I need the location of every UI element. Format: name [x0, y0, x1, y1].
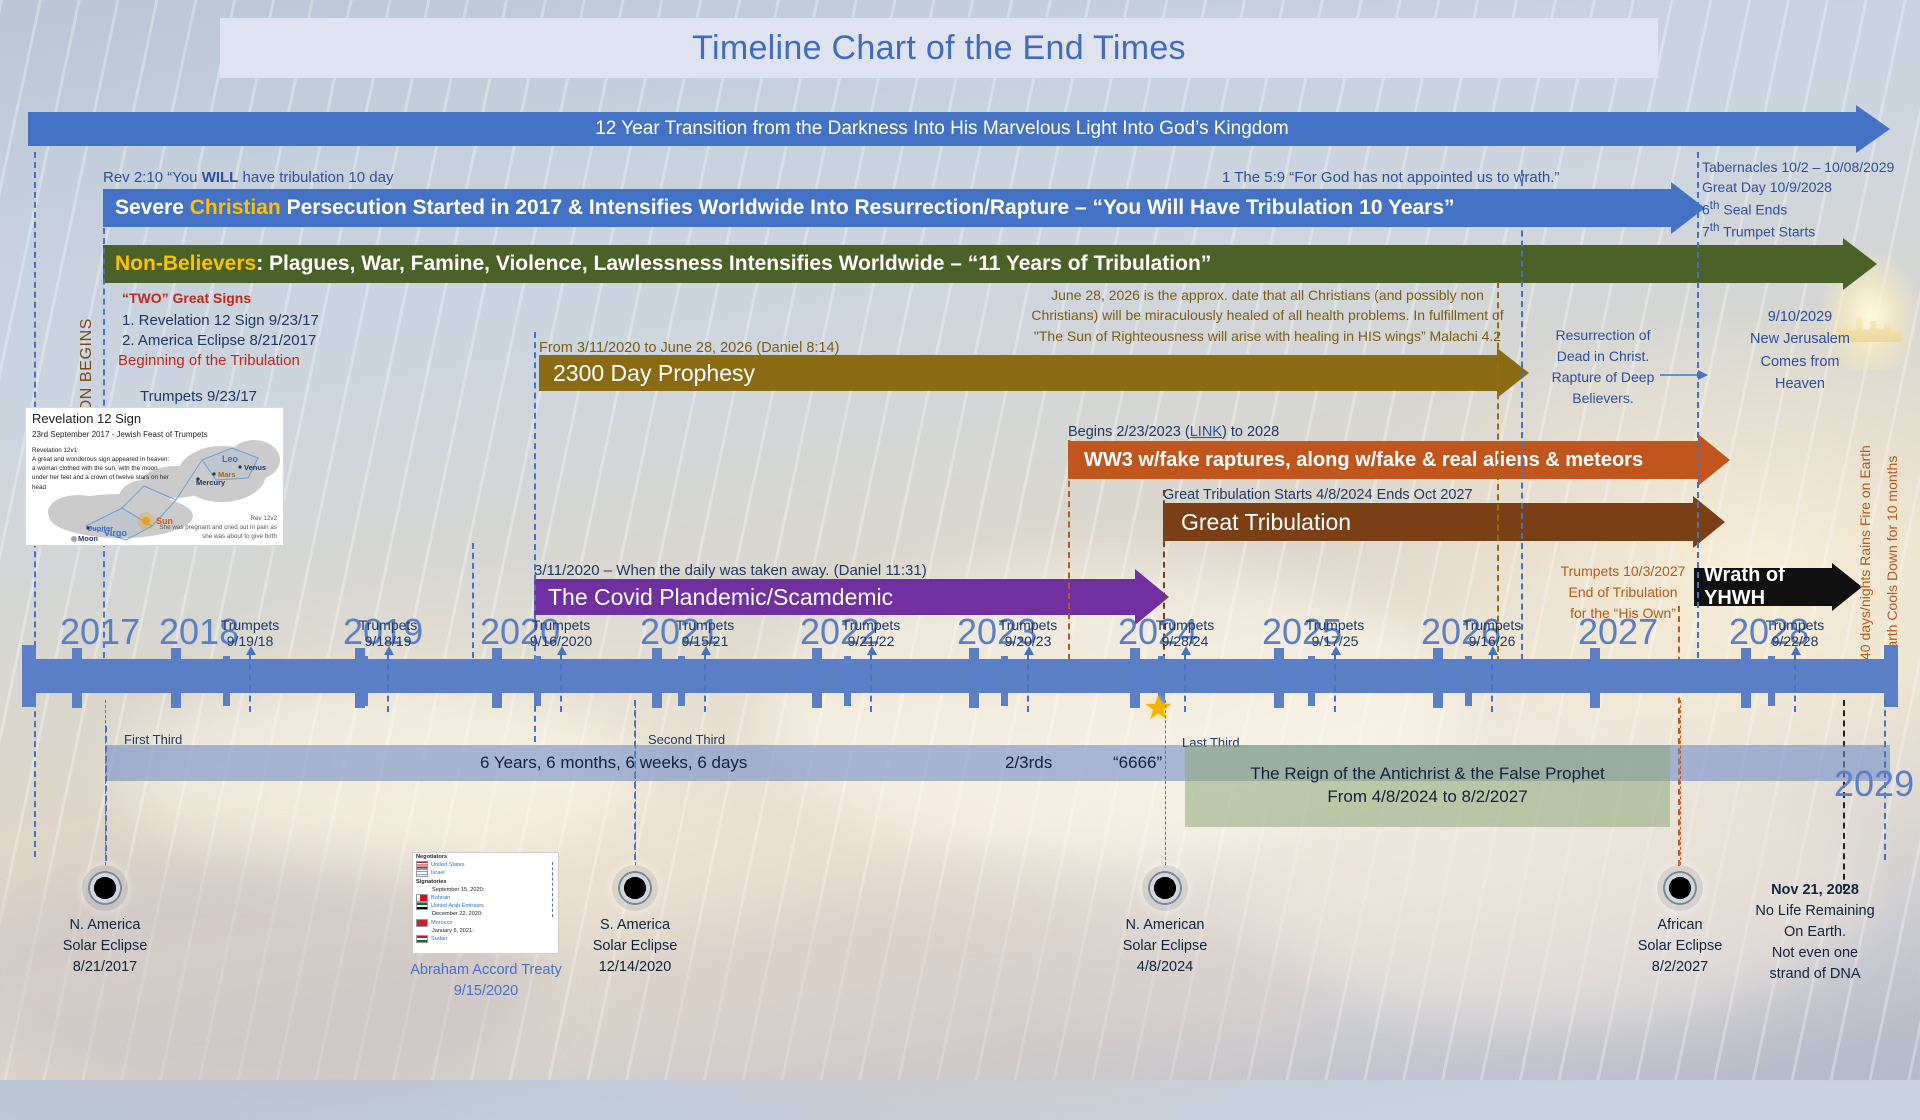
accord-country: Israel	[431, 870, 445, 876]
bar-wrath-of-yhwh: Wrath of YHWH	[1694, 568, 1832, 606]
antichrist-reign-line-2: From 4/8/2024 to 8/2/2027	[1327, 786, 1527, 809]
axis-tick-major	[171, 648, 181, 708]
great-day-line: Great Day 10/9/2028	[1702, 177, 1894, 197]
malachi-line-2: Christians) will be miraculously healed …	[1020, 305, 1515, 325]
tabernacles-line: Tabernacles 10/2 – 10/08/2029	[1702, 157, 1894, 177]
axis-trumpet-word: Trumpets	[522, 617, 600, 633]
accord-negotiators-label: Negotiators	[416, 854, 447, 860]
axis-tick-major	[72, 648, 82, 708]
antichrist-reign-line-1: The Reign of the Antichrist & the False …	[1250, 763, 1604, 786]
flag-icon	[416, 869, 428, 877]
rev12-title: Revelation 12 Sign	[32, 411, 141, 426]
bar-persecution-arrowhead	[1671, 182, 1705, 234]
accord-date: September 15, 2020:	[416, 887, 484, 893]
resurrection-line-2: Dead in Christ.	[1542, 346, 1664, 367]
no-life-line-5: strand of DNA	[1742, 964, 1888, 985]
accord-row: Sudan	[413, 935, 558, 943]
axis-trumpet-date: 9/16/2020	[522, 633, 600, 649]
axis-tick-major	[492, 648, 502, 708]
trumpets-end-line-1: Trumpets 10/3/2027	[1548, 561, 1698, 582]
accord-signatories-header: Signatories	[413, 878, 558, 886]
axis-trumpet-arrow-icon	[249, 654, 251, 712]
accord-country: Morocco	[431, 920, 452, 926]
axis-tick-minor	[1768, 656, 1775, 706]
guide-accord	[552, 862, 553, 917]
rev12-label-mercury: Mercury	[196, 478, 225, 487]
rev-2-10-pre: Rev 2:10 “You	[103, 169, 202, 186]
persecution-post: Persecution Started in 2017 & Intensifie…	[281, 196, 1455, 219]
great-tribulation-note: Great Tribulation Starts 4/8/2024 Ends O…	[1163, 486, 1473, 504]
axis-trumpet-date: 9/16/26	[1453, 633, 1531, 649]
eclipse-label-line-1: African	[1602, 915, 1758, 936]
accord-date: December 22, 2020:	[416, 911, 483, 917]
bar-wrath-label: Wrath of YHWH	[1704, 564, 1832, 610]
axis-tick-minor	[361, 656, 368, 706]
new-jerusalem-line-1: 9/10/2029	[1730, 306, 1870, 328]
axis-tick-major	[969, 648, 979, 708]
ww3-note: Begins 2/23/2023 (LINK) to 2028	[1068, 423, 1279, 441]
rev12-verse2-text: She was pregnant and cried out in pain a…	[157, 523, 277, 541]
abraham-accord-caption: Abraham Accord Treaty 9/15/2020	[396, 960, 576, 1002]
trumpets-9-23-17: Trumpets 9/23/17	[140, 388, 257, 407]
six-six-six-six-label: 6 Years, 6 months, 6 weeks, 6 days	[480, 753, 747, 773]
eclipse-guide	[1165, 700, 1166, 865]
eclipse-label-line-1: S. America	[557, 915, 713, 936]
beginning-of-tribulation: Beginning of the Tribulation	[118, 352, 300, 371]
resurrection-line-4: Believers.	[1542, 388, 1664, 409]
axis-trumpet-word: Trumpets	[989, 617, 1067, 633]
axis-trumpet-label: Trumpets9/28/24	[1146, 617, 1224, 649]
bar-2300-day-prophesy: 2300 Day Prophesy	[539, 355, 1497, 391]
axis-trumpet-word: Trumpets	[1756, 617, 1834, 633]
new-jerusalem-line-4: Heaven	[1730, 373, 1870, 395]
axis-tick-minor	[534, 656, 541, 706]
no-life-line-3: On Earth.	[1742, 922, 1888, 943]
rev-2-10-post: have tribulation 10 day	[238, 169, 393, 186]
new-jerusalem-note: 9/10/2029 New Jerusalem Comes from Heave…	[1730, 306, 1870, 396]
earth-cools-note: Earth Cools Down for 10 months	[1884, 408, 1900, 658]
abraham-accord-caption-line-1: Abraham Accord Treaty	[396, 960, 576, 981]
accord-row: December 22, 2020:	[413, 910, 558, 918]
rev-2-10-note: Rev 2:10 “You WILL have tribulation 10 d…	[103, 169, 393, 188]
axis-trumpet-arrow-icon	[1334, 654, 1336, 712]
guide-2018	[472, 543, 474, 658]
eclipse-icon	[612, 865, 658, 911]
axis-trumpet-label: Trumpets9/20/23	[989, 617, 1067, 649]
axis-trumpet-arrow-icon	[704, 654, 706, 712]
great-sign-2: 2. America Eclipse 8/21/2017	[122, 332, 316, 351]
axis-trumpet-label: Trumpets9/16/26	[1453, 617, 1531, 649]
accord-row: Morocco	[413, 919, 558, 927]
accord-country: United Arab Emirates	[431, 903, 484, 909]
axis-tick-minor	[1308, 656, 1315, 706]
new-jerusalem-line-3: Comes from	[1730, 351, 1870, 373]
axis-trumpet-label: Trumpets9/15/21	[666, 617, 744, 649]
axis-tick-major	[1741, 648, 1751, 708]
axis-trumpet-date: 9/17/25	[1296, 633, 1374, 649]
accord-country: United States	[431, 862, 465, 868]
axis-trumpet-arrow-icon	[560, 654, 562, 712]
bar-non-believers: Non-Believers: Plagues, War, Famine, Vio…	[103, 245, 1843, 283]
accord-row: January 6, 2021:	[413, 927, 558, 935]
axis-trumpet-word: Trumpets	[211, 617, 289, 633]
axis-trumpet-date: 9/20/23	[989, 633, 1067, 649]
malachi-line-3: "The Sun of Righteousness will arise wit…	[1020, 326, 1515, 346]
resurrection-note: Resurrection of Dead in Christ. Rapture …	[1542, 325, 1664, 409]
rev-2-10-bold: WILL	[202, 169, 239, 186]
axis-trumpet-arrow-icon	[870, 654, 872, 712]
malachi-note: June 28, 2026 is the approx. date that a…	[1020, 285, 1515, 346]
bar-12-year-transition: 12 Year Transition from the Darkness Int…	[28, 112, 1856, 146]
resurrection-line-3: Rapture of Deep	[1542, 367, 1664, 388]
axis-year-label: 2027	[1578, 611, 1658, 653]
rev12-label-sun: Sun	[156, 516, 173, 526]
bar-ww3-label: WW3 w/fake raptures, along w/fake & real…	[1084, 449, 1643, 472]
guide-rapture	[1521, 170, 1523, 660]
malachi-line-1: June 28, 2026 is the approx. date that a…	[1020, 285, 1515, 305]
axis-trumpet-arrow-icon	[1184, 654, 1186, 712]
eclipse-guide	[1680, 700, 1681, 865]
abraham-accord-caption-line-2: 9/15/2020	[396, 981, 576, 1002]
persecution-highlight: Christian	[190, 196, 281, 219]
rev12-verse-ref: Revelation 12v1	[32, 446, 172, 455]
covid-note: 3/11/2020 – When the daily was taken awa…	[534, 562, 927, 581]
bar-2300-arrowhead	[1497, 348, 1529, 398]
flag-icon	[416, 902, 428, 910]
accord-row: United States	[413, 861, 558, 869]
ww3-note-post: ) to 2028	[1222, 424, 1279, 440]
ww3-note-pre: Begins 2/23/2023 (	[1068, 424, 1190, 440]
year-2029-label: 2029	[1834, 763, 1914, 805]
seal-6-line: 6th Seal Ends	[1702, 198, 1894, 220]
resurrection-arrow-icon	[1660, 368, 1708, 382]
axis-trumpet-word: Trumpets	[666, 617, 744, 633]
bar-non-believers-label: Non-Believers: Plagues, War, Famine, Vio…	[115, 252, 1211, 276]
axis-trumpet-label: Trumpets9/19/18	[211, 617, 289, 649]
trumpet-7-line: 7th Trumpet Starts	[1702, 220, 1894, 242]
eclipse-guide	[635, 700, 636, 865]
eclipse-label-line-3: 8/21/2017	[27, 957, 183, 978]
bar-great-tribulation: Great Tribulation	[1163, 503, 1693, 541]
guide-tabernacles	[1697, 152, 1699, 658]
flag-icon	[416, 861, 428, 869]
bar-covid-label: The Covid Plandemic/Scamdemic	[548, 584, 893, 611]
accord-negotiators-header: Negotiators	[413, 853, 558, 861]
axis-trumpet-word: Trumpets	[349, 617, 427, 633]
no-life-line-2: No Life Remaining	[1742, 901, 1888, 922]
guide-ww3-start	[1068, 440, 1070, 660]
resurrection-line-1: Resurrection of	[1542, 325, 1664, 346]
eclipse-label-line-2: Solar Eclipse	[27, 936, 183, 957]
axis-tick-minor	[678, 656, 685, 706]
thess-5-9-note: 1 The 5:9 “For God has not appointed us …	[1222, 169, 1559, 188]
star-marker-4-8-2024: ★	[1143, 688, 1173, 728]
bar-12-year-transition-label: 12 Year Transition from the Darkness Int…	[28, 118, 1856, 140]
bar-ww3: WW3 w/fake raptures, along w/fake & real…	[1068, 441, 1698, 479]
axis-trumpet-word: Trumpets	[1146, 617, 1224, 633]
bar-ww3-arrowhead	[1698, 434, 1730, 486]
two-great-signs-heading: “TWO” Great Signs	[122, 290, 251, 308]
page-title: Timeline Chart of the End Times	[692, 29, 1186, 68]
axis-trumpet-date: 9/18/19	[349, 633, 427, 649]
second-third-label: Second Third	[648, 732, 725, 747]
eclipse-label-line-3: 4/8/2024	[1087, 957, 1243, 978]
axis-tick-major	[652, 648, 662, 708]
bar-great-tribulation-label: Great Tribulation	[1181, 509, 1351, 536]
eclipse-label-line-1: N. America	[27, 915, 183, 936]
no-life-line-1: Nov 21, 2028	[1742, 880, 1888, 901]
eclipse-label-line-2: Solar Eclipse	[557, 936, 713, 957]
eclipse-icon	[1142, 865, 1188, 911]
bar-non-believers-arrowhead	[1843, 238, 1877, 290]
axis-trumpet-arrow-icon	[1794, 654, 1796, 712]
accord-signatories-label: Signatories	[416, 879, 446, 885]
antichrist-reign-box: The Reign of the Antichrist & the False …	[1185, 745, 1670, 827]
rev12-verse2-ref: Rev 12v2	[157, 514, 277, 523]
flag-icon	[416, 894, 428, 902]
axis-tick-major	[1130, 648, 1140, 708]
trumpets-end-line-2: End of Tribulation	[1548, 582, 1698, 603]
great-sign-1: 1. Revelation 12 Sign 9/23/17	[122, 312, 319, 331]
timeline-axis-left-cap	[22, 645, 36, 707]
no-life-note: Nov 21, 2028 No Life Remaining On Earth.…	[1742, 880, 1888, 985]
eclipse-icon	[82, 865, 128, 911]
axis-tick-minor	[1001, 656, 1008, 706]
nonbelievers-post: : Plagues, War, Famine, Violence, Lawles…	[256, 252, 1211, 275]
axis-trumpet-arrow-icon	[387, 654, 389, 712]
axis-tick-minor	[1465, 656, 1472, 706]
axis-trumpet-date: 9/21/22	[832, 633, 910, 649]
persecution-pre: Severe	[115, 196, 190, 219]
revelation-12-sign-image: Revelation 12 Sign 23rd September 2017 -…	[25, 407, 284, 546]
eclipse-label-line-3: 12/14/2020	[557, 957, 713, 978]
axis-tick-major	[1433, 648, 1443, 708]
axis-tick-major	[1274, 648, 1284, 708]
eclipse-guide	[105, 700, 106, 865]
no-life-line-4: Not even one	[1742, 943, 1888, 964]
rev12-verse2: Rev 12v2 She was pregnant and cried out …	[157, 514, 277, 541]
rev12-label-leo: Leo	[222, 454, 238, 464]
eclipse-label-line-2: Solar Eclipse	[1087, 936, 1243, 957]
axis-trumpet-label: Trumpets9/21/22	[832, 617, 910, 649]
axis-year-label: 2017	[60, 611, 140, 653]
ww3-link[interactable]: LINK	[1190, 424, 1222, 440]
page-title-box: Timeline Chart of the End Times	[220, 18, 1658, 78]
nonbelievers-highlight: Non-Believers	[115, 252, 256, 275]
axis-tick-major	[1590, 648, 1600, 708]
two-thirds-label: 2/3rds	[1005, 753, 1052, 773]
eclipse-label: AfricanSolar Eclipse8/2/2027	[1602, 915, 1758, 978]
axis-trumpet-label: Trumpets9/16/2020	[522, 617, 600, 649]
flag-icon	[416, 935, 428, 943]
eclipse-label-line-2: Solar Eclipse	[1602, 936, 1758, 957]
timeline-axis	[22, 659, 1898, 693]
axis-trumpet-date: 9/19/18	[211, 633, 289, 649]
rev12-label-moon: Moon	[78, 534, 98, 543]
axis-trumpet-label: Trumpets9/17/25	[1296, 617, 1374, 649]
axis-trumpet-date: 9/15/21	[666, 633, 744, 649]
accord-row: Israel	[413, 869, 558, 877]
abraham-accord-image: NegotiatorsUnited StatesIsraelSignatorie…	[412, 852, 559, 954]
rev12-label-venus: Venus	[244, 463, 266, 472]
axis-tick-major	[812, 648, 822, 708]
rev12-label-jupiter: Jupiter	[88, 524, 113, 533]
axis-trumpet-label: Trumpets9/22/28	[1756, 617, 1834, 649]
timeline-axis-right-cap	[1884, 645, 1898, 707]
accord-country: Sudan	[431, 936, 447, 942]
bar-persecution-label: Severe Christian Persecution Started in …	[115, 196, 1455, 220]
axis-tick-minor	[844, 656, 851, 706]
bar-12-year-transition-arrowhead	[1856, 105, 1890, 153]
rev12-verse-text: A great and wonderous sign appeared in h…	[32, 455, 172, 492]
accord-country: Bahrain	[431, 895, 450, 901]
bar-2300-day-prophesy-label: 2300 Day Prophesy	[553, 360, 755, 387]
guide-2300-end	[1497, 282, 1499, 662]
axis-trumpet-word: Trumpets	[832, 617, 910, 633]
axis-trumpet-label: Trumpets9/18/19	[349, 617, 427, 649]
eclipse-label: N. AmericaSolar Eclipse8/21/2017	[27, 915, 183, 978]
rev12-subtitle: 23rd September 2017 - Jewish Feast of Tr…	[32, 430, 208, 439]
new-jerusalem-line-2: New Jerusalem	[1730, 328, 1870, 350]
eclipse-label: S. AmericaSolar Eclipse12/14/2020	[557, 915, 713, 978]
eclipse-label-line-3: 8/2/2027	[1602, 957, 1758, 978]
bar-covid: The Covid Plandemic/Scamdemic	[534, 579, 1135, 615]
accord-date: January 6, 2021:	[416, 928, 474, 934]
first-third-label: First Third	[124, 732, 182, 747]
tabernacles-note: Tabernacles 10/2 – 10/08/2029 Great Day …	[1702, 157, 1894, 242]
eclipse-icon	[1657, 865, 1703, 911]
rev12-verse: Revelation 12v1 A great and wonderous si…	[32, 446, 172, 492]
6666-label: “6666”	[1113, 753, 1162, 773]
axis-tick-minor	[223, 656, 230, 706]
eclipse-label: N. AmericanSolar Eclipse4/8/2024	[1087, 915, 1243, 978]
bar-christian-persecution: Severe Christian Persecution Started in …	[103, 189, 1671, 227]
axis-trumpet-arrow-icon	[1027, 654, 1029, 712]
axis-trumpet-date: 9/22/28	[1756, 633, 1834, 649]
axis-trumpet-arrow-icon	[1491, 654, 1493, 712]
axis-trumpet-word: Trumpets	[1296, 617, 1374, 633]
flag-icon	[416, 919, 428, 927]
accord-row: September 15, 2020:	[413, 886, 558, 894]
axis-trumpet-date: 9/28/24	[1146, 633, 1224, 649]
eclipse-label-line-1: N. American	[1087, 915, 1243, 936]
accord-row: Bahrain	[413, 894, 558, 902]
accord-row: United Arab Emirates	[413, 902, 558, 910]
axis-trumpet-word: Trumpets	[1453, 617, 1531, 633]
rains-fire-note: 40 days/nights Rains Fire on Earth	[1857, 400, 1873, 660]
